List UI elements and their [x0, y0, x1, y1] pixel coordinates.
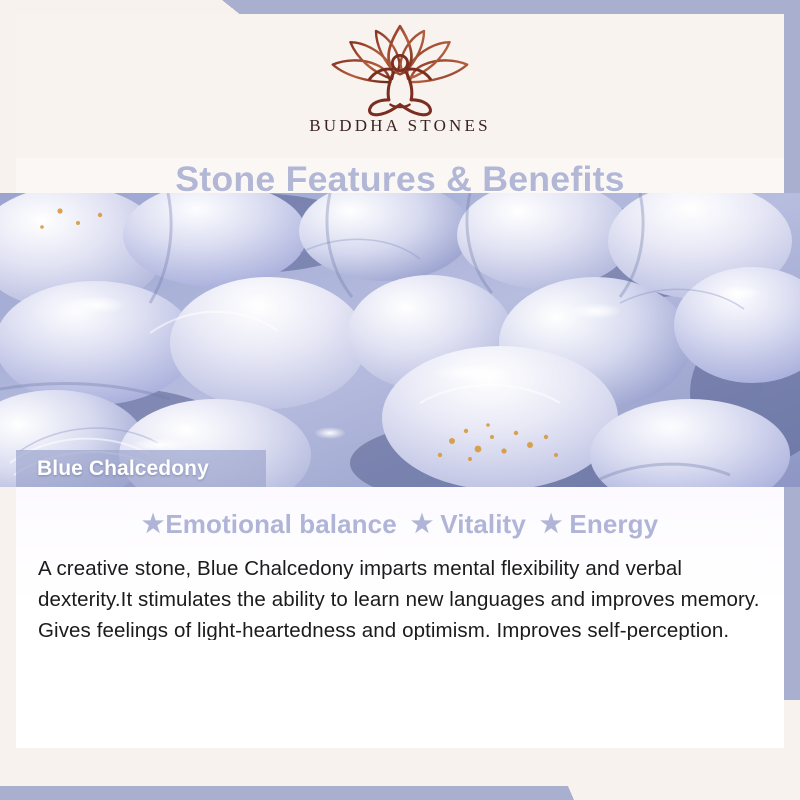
feature-label: Vitality — [440, 509, 526, 540]
feature-label: Emotional balance — [165, 509, 396, 540]
feature-item-energy: ★ Energy — [540, 509, 658, 540]
infographic-card: BUDDHA STONES Stone Features & Benefits — [0, 0, 800, 800]
feature-label: Energy — [569, 509, 658, 540]
star-icon: ★ — [142, 512, 165, 537]
bottom-spacer — [16, 640, 784, 748]
feature-item-vitality: ★ Vitality — [411, 509, 526, 540]
stone-name-banner: Blue Chalcedony — [16, 450, 266, 487]
stone-photo — [0, 193, 800, 487]
header: BUDDHA STONES Stone Features & Benefits — [16, 14, 784, 193]
star-icon: ★ — [411, 512, 434, 537]
features-row: ★ Emotional balance ★ Vitality ★ Energy — [16, 487, 784, 540]
brand-name: BUDDHA STONES — [309, 116, 491, 136]
star-icon: ★ — [540, 512, 563, 537]
description-text: A creative stone, Blue Chalcedony impart… — [38, 553, 760, 646]
feature-item-emotional-balance: ★ Emotional balance — [142, 509, 397, 540]
lotus-meditation-icon — [305, 22, 495, 120]
stone-name-label: Blue Chalcedony — [16, 457, 209, 481]
